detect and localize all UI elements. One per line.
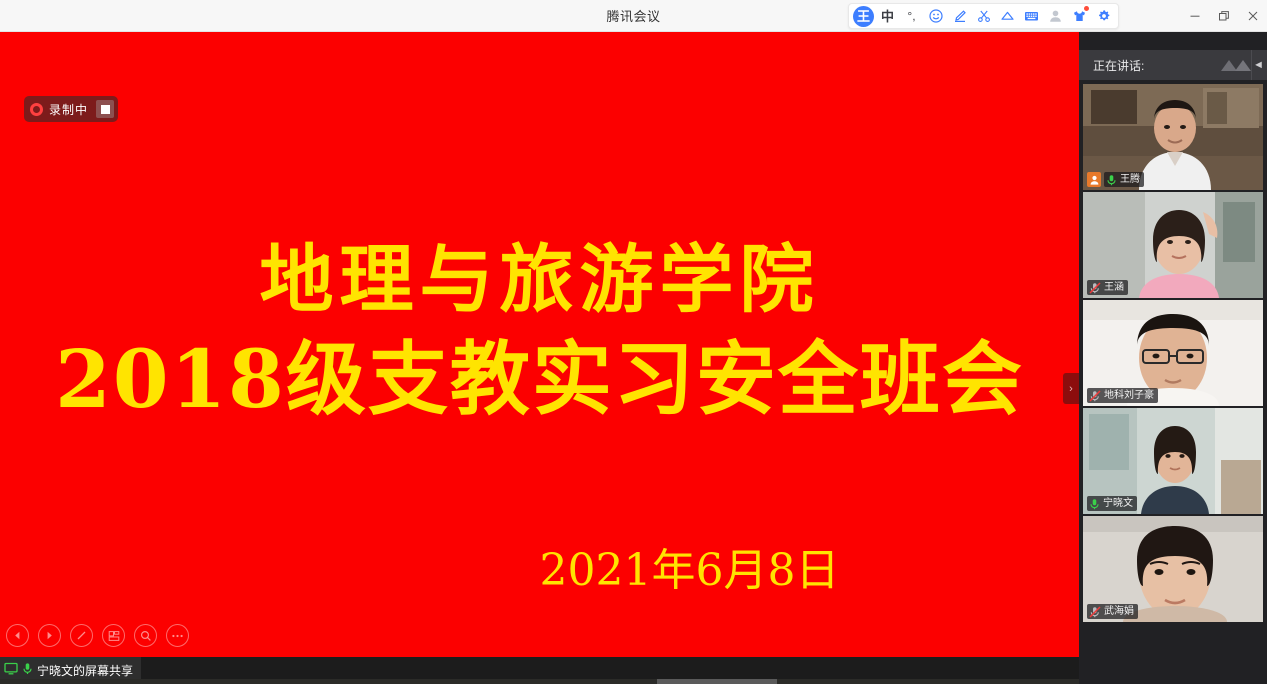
notification-dot bbox=[1084, 6, 1089, 11]
minimize-icon[interactable] bbox=[1180, 0, 1209, 32]
tencent-meeting-window: 腾讯会议 王 中 °, bbox=[0, 0, 1267, 684]
presentation-controls bbox=[6, 624, 189, 647]
participant-video-rail: 正在讲话: ◄ bbox=[1079, 32, 1267, 684]
restore-icon[interactable] bbox=[1209, 0, 1238, 32]
close-icon[interactable] bbox=[1238, 0, 1267, 32]
punctuation-mode-button[interactable]: °, bbox=[901, 5, 922, 27]
slide-title: 地理与旅游学院 2018级支教实习安全班会 bbox=[0, 230, 1079, 428]
taskbar: 宁晓文的屏幕共享 bbox=[0, 657, 1079, 684]
person-icon[interactable] bbox=[1045, 5, 1066, 27]
mic-unmuted-icon bbox=[22, 662, 33, 680]
zoom-button[interactable] bbox=[134, 624, 157, 647]
gear-icon[interactable] bbox=[1093, 5, 1114, 27]
recording-indicator[interactable]: 录制中 bbox=[24, 96, 118, 122]
participant-name: 武海娟 bbox=[1104, 607, 1134, 617]
person-icon bbox=[1090, 175, 1099, 185]
keyboard-icon[interactable] bbox=[1021, 5, 1042, 27]
shirt-icon[interactable] bbox=[1069, 5, 1090, 27]
previous-slide-button[interactable] bbox=[6, 624, 29, 647]
participant-name: 王涵 bbox=[1104, 283, 1124, 293]
mic-muted-icon bbox=[1089, 390, 1101, 402]
participant-name: 宁晓文 bbox=[1103, 499, 1133, 509]
taskbar-share-label: 宁晓文的屏幕共享 bbox=[37, 662, 133, 679]
participant-tile[interactable]: 地科刘子豪 bbox=[1083, 300, 1263, 406]
participant-nameplate: 地科刘子豪 bbox=[1087, 388, 1158, 403]
slide-overview-button[interactable] bbox=[102, 624, 125, 647]
participant-nameplate: 王腾 bbox=[1104, 172, 1144, 187]
pencil-icon[interactable] bbox=[949, 5, 970, 27]
active-speaker-bar: 正在讲话: bbox=[1079, 50, 1267, 80]
window-controls bbox=[1180, 0, 1267, 32]
ime-toolbar[interactable]: 王 中 °, bbox=[848, 3, 1119, 29]
participant-tiles: 王腾 bbox=[1083, 84, 1263, 624]
rail-collapse-button[interactable]: ◄ bbox=[1251, 50, 1265, 80]
participant-name: 地科刘子豪 bbox=[1104, 391, 1154, 401]
more-options-button[interactable] bbox=[166, 624, 189, 647]
mic-unmuted-icon bbox=[1106, 174, 1117, 186]
chinese-mode-button[interactable]: 中 bbox=[877, 5, 898, 27]
participant-tile[interactable]: 宁晓文 bbox=[1083, 408, 1263, 514]
participant-nameplate: 王涵 bbox=[1087, 280, 1128, 295]
title-bar: 腾讯会议 王 中 °, bbox=[0, 0, 1267, 32]
participant-name: 王腾 bbox=[1120, 175, 1140, 185]
participant-tile[interactable]: 武海娟 bbox=[1083, 516, 1263, 622]
active-speaker-label: 正在讲话: bbox=[1093, 57, 1144, 74]
audio-wave-icon bbox=[1148, 55, 1261, 75]
mic-unmuted-icon bbox=[1089, 498, 1100, 510]
pen-tool-button[interactable] bbox=[70, 624, 93, 647]
cloud-icon[interactable] bbox=[997, 5, 1018, 27]
stop-recording-button[interactable] bbox=[96, 100, 114, 118]
emoji-icon[interactable] bbox=[925, 5, 946, 27]
stage-collapse-handle[interactable]: › bbox=[1063, 373, 1079, 404]
ime-logo-icon[interactable]: 王 bbox=[853, 6, 874, 27]
taskbar-strip bbox=[0, 679, 1079, 684]
taskbar-scrollbar[interactable] bbox=[657, 679, 777, 684]
recording-status-text: 录制中 bbox=[49, 101, 88, 118]
slide-title-line2: 2018级支教实习安全班会 bbox=[0, 330, 1079, 428]
participant-nameplate: 宁晓文 bbox=[1087, 496, 1137, 511]
slide-title-line1: 地理与旅游学院 bbox=[0, 230, 1079, 330]
slide-date: 2021年6月8日 bbox=[0, 534, 1079, 598]
participant-tile[interactable]: 王涵 bbox=[1083, 192, 1263, 298]
host-badge bbox=[1087, 172, 1101, 187]
mic-muted-icon bbox=[1089, 606, 1101, 618]
next-slide-button[interactable] bbox=[38, 624, 61, 647]
mic-muted-icon bbox=[1089, 282, 1101, 294]
record-icon bbox=[30, 103, 43, 116]
monitor-icon bbox=[4, 662, 18, 680]
participant-nameplate: 武海娟 bbox=[1087, 604, 1138, 619]
participant-tile[interactable]: 王腾 bbox=[1083, 84, 1263, 190]
presentation-slide: 录制中 地理与旅游学院 2018级支教实习安全班会 2021年6月8日 bbox=[0, 32, 1079, 657]
scissors-icon[interactable] bbox=[973, 5, 994, 27]
shared-screen-area[interactable]: 录制中 地理与旅游学院 2018级支教实习安全班会 2021年6月8日 bbox=[0, 32, 1079, 657]
